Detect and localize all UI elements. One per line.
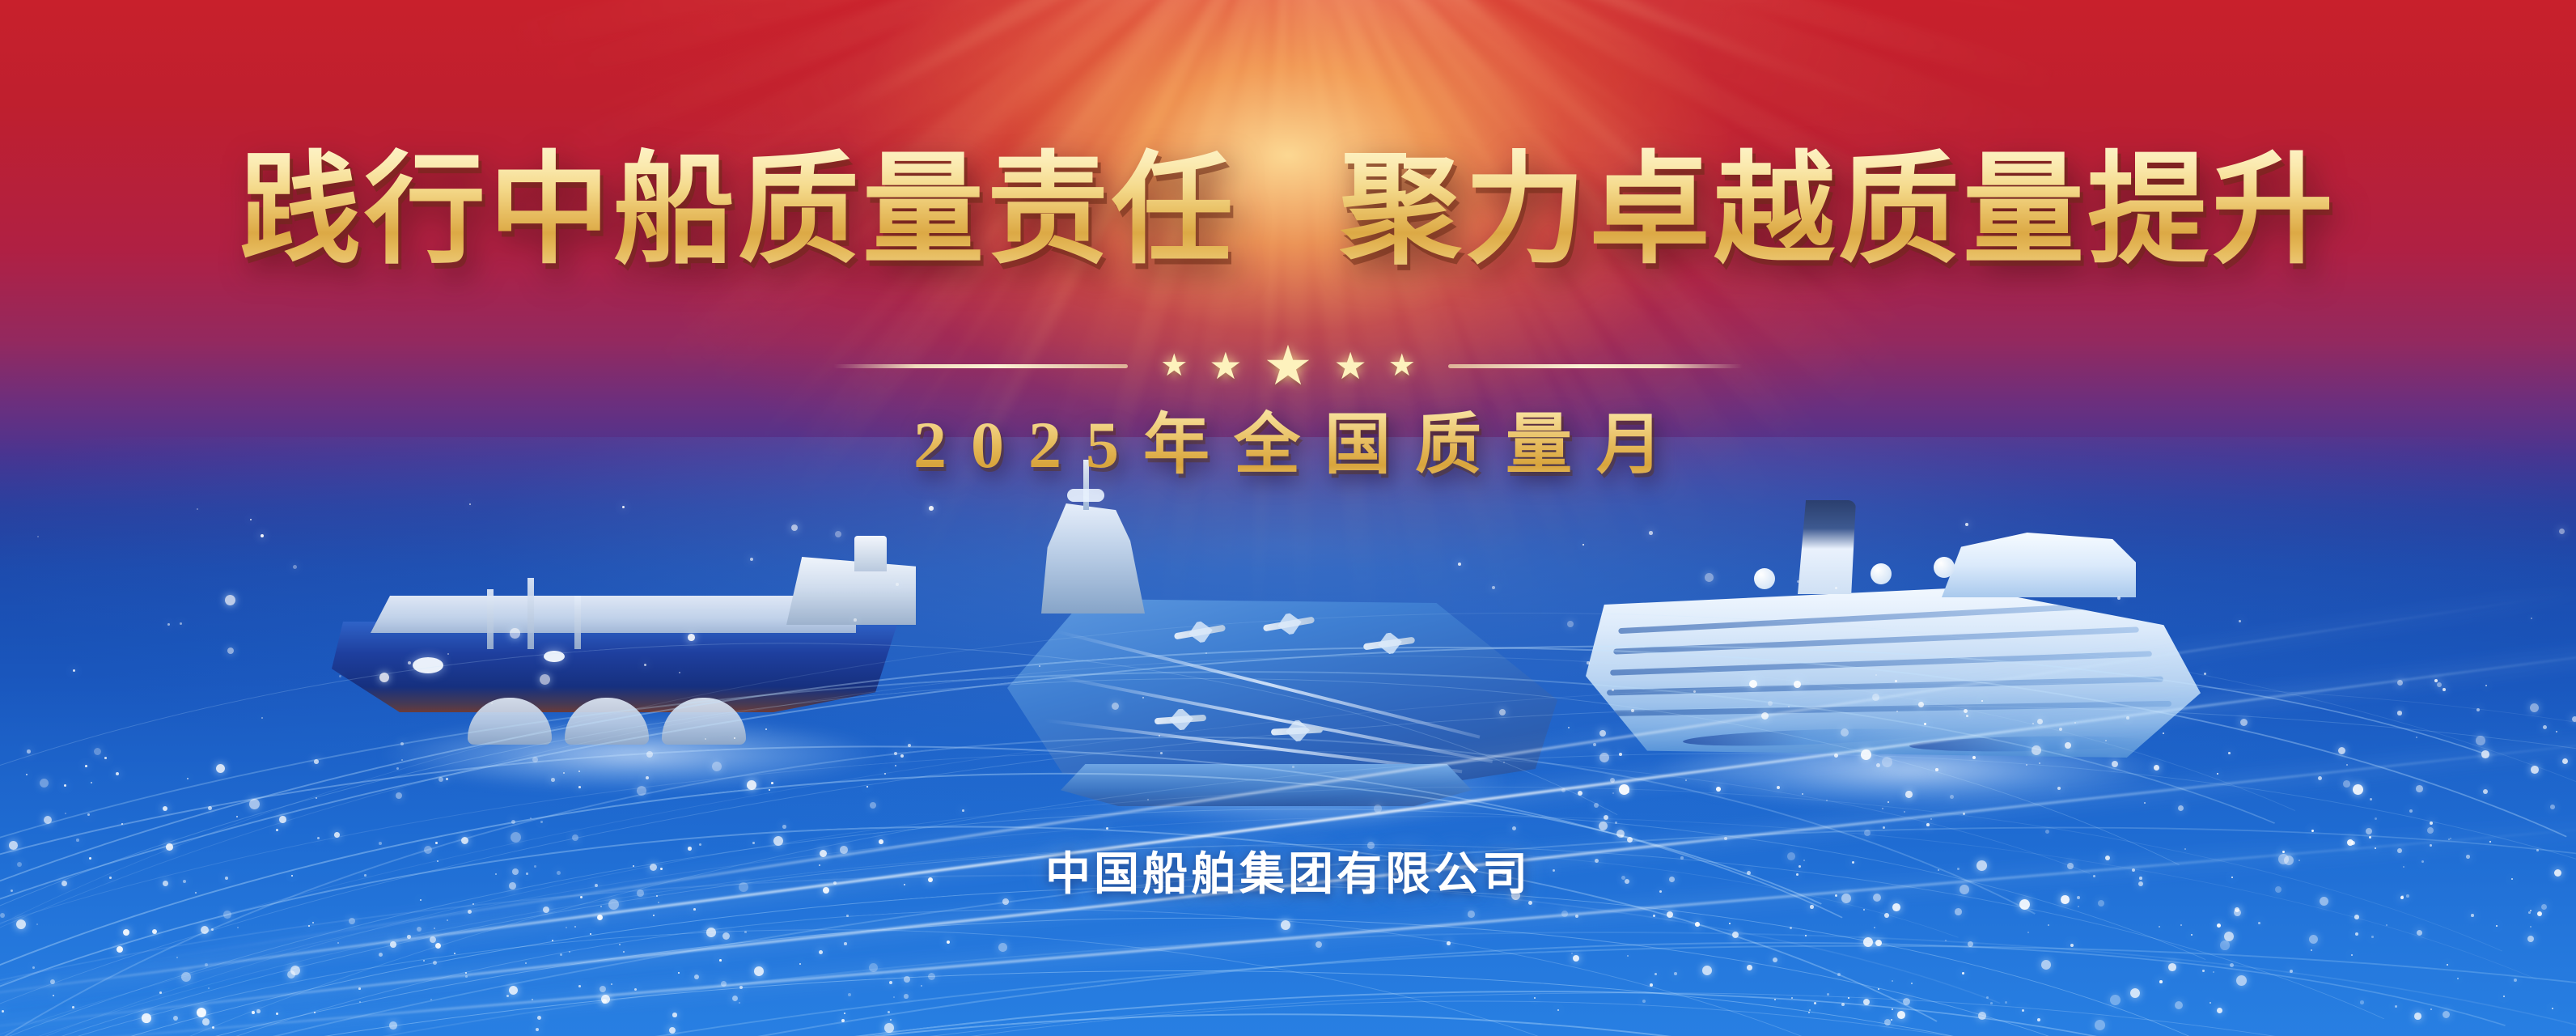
carrier-bow (1061, 764, 1472, 806)
divider-line-left (833, 364, 1128, 368)
main-title: 践行中船质量责任 聚力卓越质量提升 (0, 144, 2576, 275)
ship-group (0, 453, 2576, 842)
subtitle: 2025年全国质量月 (0, 390, 2576, 486)
cruise-radar-dome (1871, 563, 1892, 584)
carrier-aircraft (1270, 719, 1323, 742)
cruise-deck-row (1613, 626, 2139, 654)
cruise-deck-row (1610, 651, 2152, 675)
divider-stars: ★ ★ ★ ★ ★ (1160, 338, 1416, 393)
lng-funnel (854, 536, 887, 571)
cruise-livery-swoosh (1909, 734, 2152, 753)
lng-dome (413, 657, 443, 673)
cruise-livery-swoosh (1683, 726, 1926, 749)
cruise-deck-row (1607, 677, 2163, 696)
star-divider: ★ ★ ★ ★ ★ (0, 338, 2576, 393)
cruise-radar-dome (1754, 568, 1775, 589)
carrier-radar (1067, 489, 1104, 502)
divider-line-right (1448, 364, 1743, 368)
cruise-funnel (1798, 500, 1856, 594)
lng-mast (527, 578, 534, 649)
lng-superstructure (786, 557, 916, 625)
cruise-radar-dome (1934, 557, 1955, 578)
star-icon: ★ (1160, 350, 1188, 381)
title-part-1: 践行中船质量责任 (239, 144, 1236, 275)
cruise-ship (1586, 500, 2233, 792)
star-icon: ★ (1209, 347, 1242, 384)
lng-mast (574, 596, 581, 649)
cruise-upper-deck (1942, 533, 2136, 597)
lng-mast (487, 589, 494, 649)
cruise-deck-row (1605, 701, 2171, 716)
cruise-deck-row (1618, 602, 2120, 634)
lng-carrier-ship (332, 518, 947, 745)
star-icon: ★ (1333, 347, 1366, 384)
lng-dome (544, 651, 565, 662)
carrier-deck-marking (1056, 630, 1481, 739)
aircraft-carrier-ship (983, 453, 1598, 834)
banner-poster: 践行中船质量责任 聚力卓越质量提升 ★ ★ ★ ★ ★ 2025年全国质量月 中… (0, 0, 2576, 1036)
title-part-2: 聚力卓越质量提升 (1340, 144, 2337, 275)
lng-white-band (371, 596, 856, 633)
company-name: 中国船舶集团有限公司 (0, 838, 2576, 903)
carrier-island (1041, 503, 1145, 614)
cruise-hull (1586, 588, 2201, 758)
carrier-aircraft (1154, 707, 1207, 732)
star-icon: ★ (1388, 350, 1416, 381)
star-icon: ★ (1264, 338, 1313, 393)
